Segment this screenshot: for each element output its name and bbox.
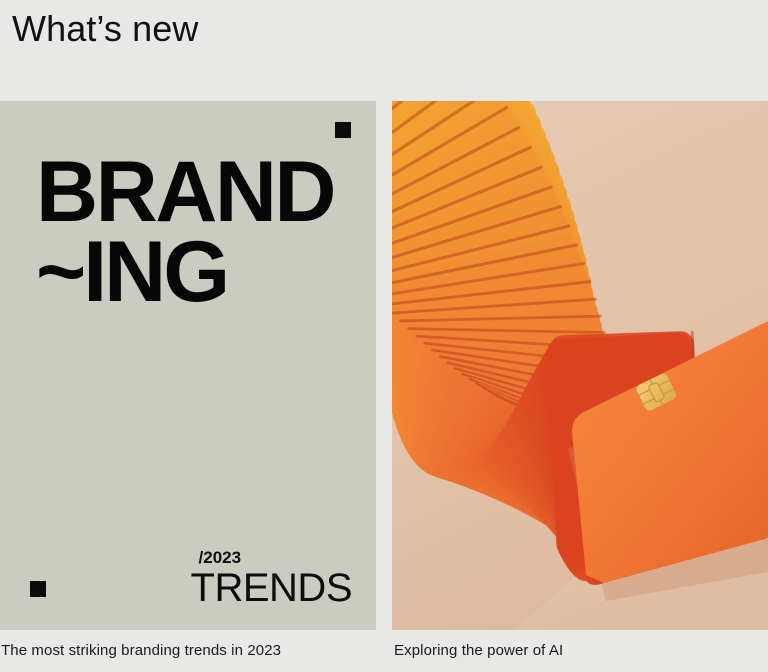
card-fan-svg (392, 101, 768, 630)
card-branding-trends[interactable]: BRAND ~ING /2023 TRENDS The most strikin… (0, 101, 376, 672)
card-caption-branding[interactable]: The most striking branding trends in 202… (1, 642, 281, 659)
black-square-decoration-top-right (335, 122, 351, 138)
black-square-decoration-bottom-left (30, 581, 46, 597)
card-media-branding[interactable]: BRAND ~ING /2023 TRENDS (0, 101, 376, 630)
card-caption-ai[interactable]: Exploring the power of AI (394, 642, 563, 659)
card-media-ai[interactable] (392, 101, 768, 630)
poster-label: TRENDS (191, 568, 352, 608)
poster-year: /2023 (199, 549, 352, 566)
card-fan-artwork (392, 101, 768, 630)
card-grid: BRAND ~ING /2023 TRENDS The most strikin… (0, 101, 768, 672)
poster-footer: /2023 TRENDS (191, 549, 352, 608)
poster-headline-line-1: BRAND (36, 153, 334, 232)
whats-new-page: What’s new BRAND ~ING /2023 TRENDS The m… (0, 0, 768, 672)
card-power-of-ai[interactable]: Exploring the power of AI (392, 101, 768, 672)
branding-poster: BRAND ~ING /2023 TRENDS (0, 101, 376, 630)
page-title: What’s new (12, 6, 198, 51)
poster-headline-line-2: ~ING (36, 233, 227, 312)
